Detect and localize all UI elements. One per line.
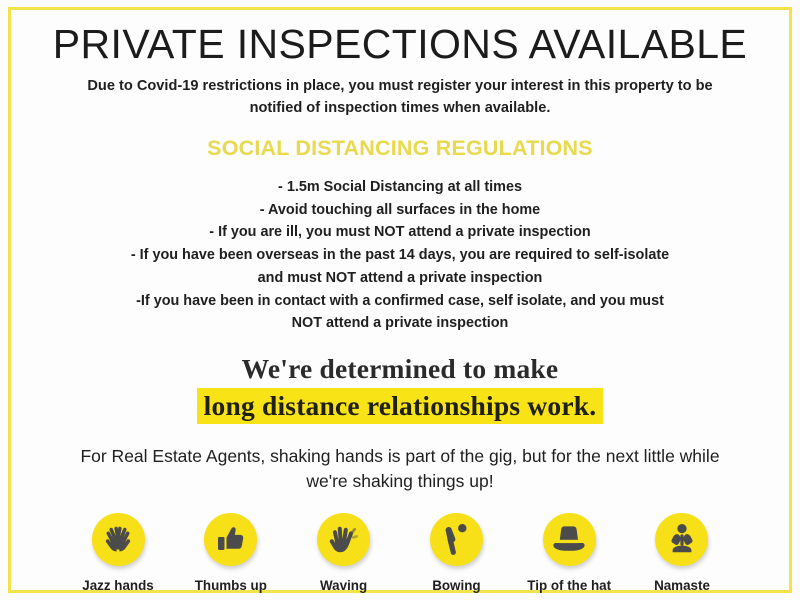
gesture-label: Jazz hands <box>82 578 153 594</box>
list-item: - 1.5m Social Distancing at all times <box>60 176 740 199</box>
list-item: Bowing <box>400 513 512 594</box>
gesture-label: Thumbs up <box>195 578 267 594</box>
namaste-icon <box>666 523 698 555</box>
list-item: - If you have been overseas in the past … <box>60 244 740 267</box>
gesture-label: Tip of the hat <box>527 578 611 594</box>
list-item: Tip of the hat <box>513 513 625 594</box>
list-item: -If you have been in contact with a conf… <box>60 290 740 313</box>
social-distancing-rules-list: - 1.5m Social Distancing at all times - … <box>60 176 740 335</box>
slogan-line-2: long distance relationships work. <box>34 388 766 425</box>
list-item: Jazz hands <box>62 513 174 594</box>
gesture-badge <box>543 513 596 566</box>
bowing-person-icon <box>443 523 469 555</box>
gesture-badge <box>317 513 370 566</box>
gesture-badge <box>430 513 483 566</box>
poster-content: PRIVATE INSPECTIONS AVAILABLE Due to Cov… <box>0 0 800 600</box>
gesture-label: Waving <box>320 578 367 594</box>
gesture-badge <box>655 513 708 566</box>
list-item: Waving <box>288 513 400 594</box>
page-title: PRIVATE INSPECTIONS AVAILABLE <box>34 0 766 66</box>
gesture-label: Namaste <box>654 578 710 594</box>
gesture-list: Jazz hands Thumbs up <box>40 513 760 594</box>
list-item: Thumbs up <box>175 513 287 594</box>
gesture-label: Bowing <box>432 578 480 594</box>
closing-paragraph: For Real Estate Agents, shaking hands is… <box>80 444 720 494</box>
gesture-badge <box>92 513 145 566</box>
top-hat-icon <box>551 524 587 554</box>
list-item: Namaste <box>626 513 738 594</box>
slogan-highlight: long distance relationships work. <box>197 388 604 425</box>
jazz-hands-icon <box>101 524 135 554</box>
gesture-badge <box>204 513 257 566</box>
poster: PRIVATE INSPECTIONS AVAILABLE Due to Cov… <box>0 0 800 600</box>
list-item: - If you are ill, you must NOT attend a … <box>60 221 740 244</box>
waving-hand-icon <box>328 524 360 555</box>
list-item: - Avoid touching all surfaces in the hom… <box>60 199 740 222</box>
intro-paragraph: Due to Covid-19 restrictions in place, y… <box>70 76 730 120</box>
list-item: and must NOT attend a private inspection <box>60 267 740 290</box>
slogan-line-1: We're determined to make <box>34 352 766 386</box>
thumbs-up-icon <box>216 524 246 554</box>
section-heading-social-distancing: SOCIAL DISTANCING REGULATIONS <box>34 136 766 162</box>
list-item: NOT attend a private inspection <box>60 312 740 335</box>
